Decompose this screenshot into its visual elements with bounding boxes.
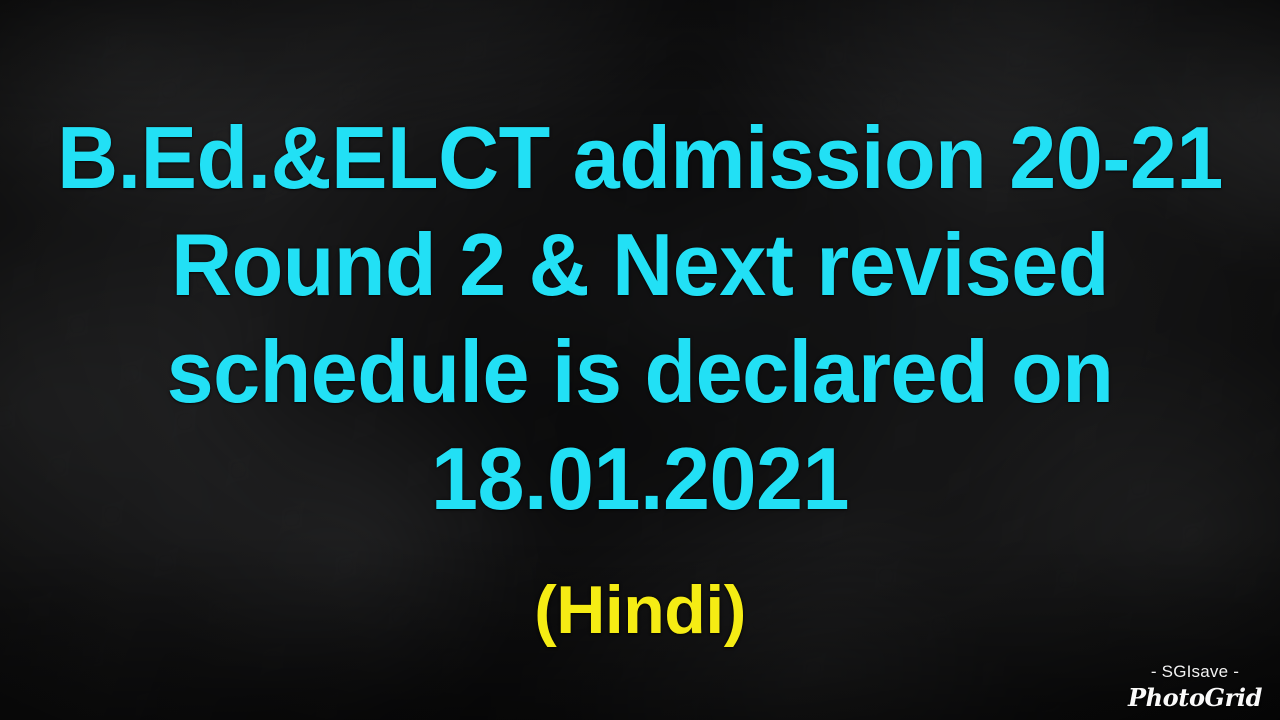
thumbnail-canvas: B.Ed.&ELCT admission 20-21 Round 2 & Nex… xyxy=(0,0,1280,720)
watermark-sgisave-label: - SGIsave - xyxy=(1128,663,1262,680)
headline-line-4-date: 18.01.2021 xyxy=(26,425,1255,532)
headline-block: B.Ed.&ELCT admission 20-21 Round 2 & Nex… xyxy=(0,104,1280,532)
watermark: - SGIsave - PhotoGrid xyxy=(1128,663,1262,710)
subtitle-block: (Hindi) xyxy=(0,572,1280,648)
headline-line-1: B.Ed.&ELCT admission 20-21 xyxy=(26,104,1255,211)
subtitle-language-label: (Hindi) xyxy=(534,572,746,648)
watermark-photogrid-logo: PhotoGrid xyxy=(1128,686,1262,710)
headline-line-3: schedule is declared on xyxy=(26,318,1255,425)
headline-line-2: Round 2 & Next revised xyxy=(26,211,1255,318)
